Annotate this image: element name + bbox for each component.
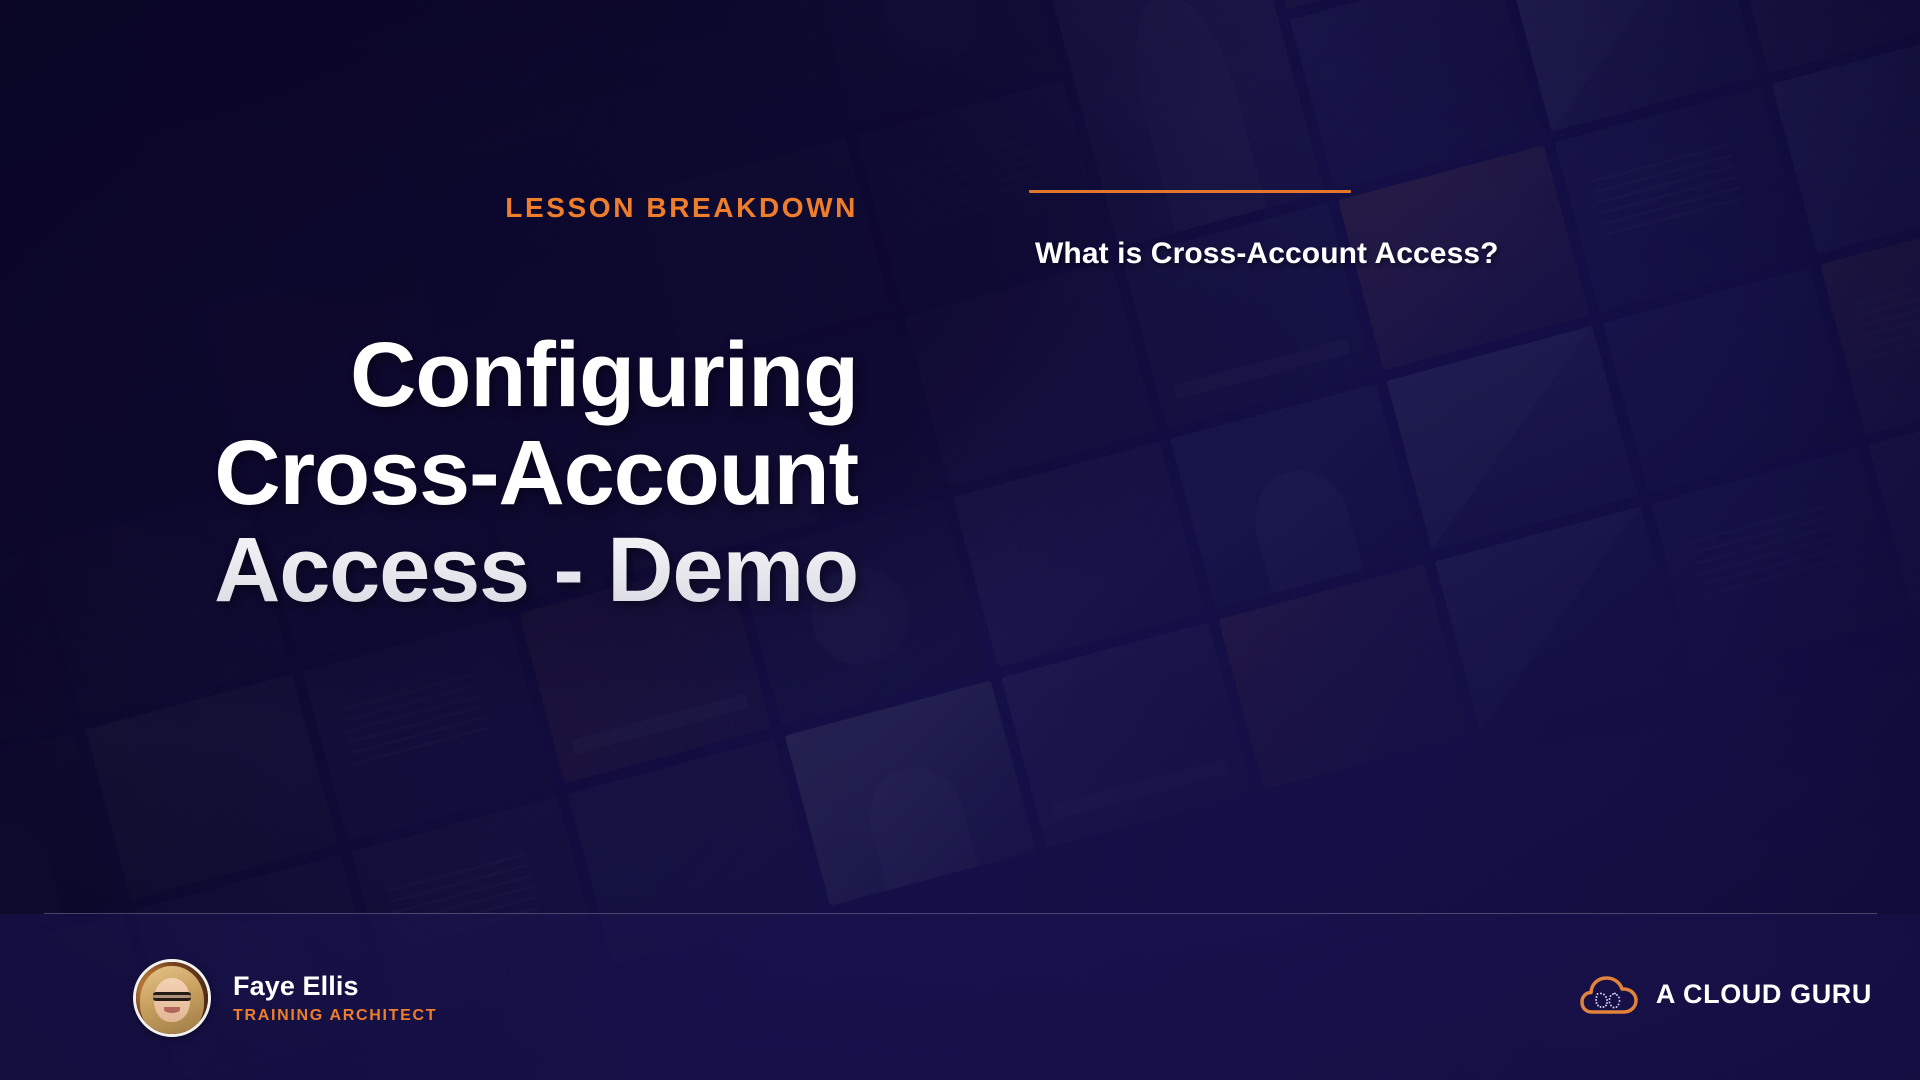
lesson-breakdown-slide: LESSON BREAKDOWN Configuring Cross-Accou… — [0, 0, 1920, 1080]
page-title-line-1: Configuring — [0, 327, 858, 425]
presenter-role: TRAINING ARCHITECT — [233, 1007, 437, 1025]
avatar — [133, 959, 211, 1037]
lesson-breakdown-eyebrow: LESSON BREAKDOWN — [0, 192, 858, 224]
presenter-name: Faye Ellis — [233, 972, 437, 1002]
lesson-topic-subtitle: What is Cross-Account Access? — [1035, 237, 1499, 271]
brand-block: A CLOUD GURU — [1580, 972, 1872, 1016]
page-title: Configuring Cross-Account Access - Demo — [0, 327, 858, 620]
page-title-line-2: Cross-Account — [0, 425, 858, 523]
brand-name: A CLOUD GURU — [1656, 979, 1872, 1010]
page-title-line-3: Access - Demo — [0, 522, 858, 620]
orange-divider-rule — [1029, 190, 1351, 193]
presenter-block: Faye Ellis TRAINING ARCHITECT — [133, 959, 437, 1037]
slide-footer: Faye Ellis TRAINING ARCHITECT — [0, 914, 1920, 1080]
glasses-icon — [153, 992, 190, 1001]
cloud-guru-logo-icon — [1580, 972, 1638, 1016]
presenter-meta: Faye Ellis TRAINING ARCHITECT — [233, 972, 437, 1024]
